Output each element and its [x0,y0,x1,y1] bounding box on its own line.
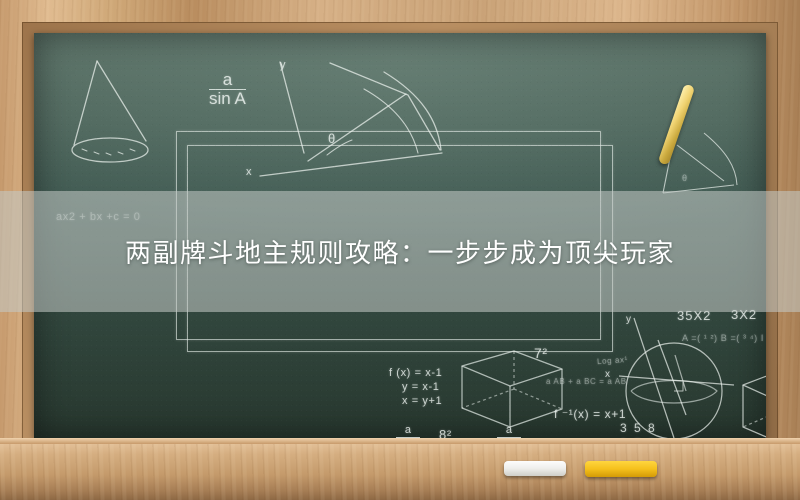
chalk-seven-squared: 7² [534,345,548,361]
chalk-angle-theta-1: θ [328,131,336,146]
chalk-axis-x-label-1: x [246,166,252,178]
blackboard-cover-image: a sin A y x θ ax2 + bx +c = 0 f (x) = x-… [0,0,800,500]
chalk-axis-x-label-2: x [605,369,611,380]
yellow-chalk-stub [585,461,657,477]
chalk-division-row-1: 3 5 8 [620,421,657,435]
chalk-fraction-a-sin-a-3: a sin A [497,425,521,438]
title-overlay-band: 两副牌斗地主规则攻略：一步步成为顶尖玩家 [0,191,800,312]
board-eraser [504,461,566,476]
chalk-inverse-function: f ⁻¹(x) = x+1 [554,407,626,421]
chalk-axis-y-label-2: y [626,314,632,325]
chalk-axis-y-label-1: y [280,59,286,71]
chalk-fraction-a-sin-a-1: a sin A [209,71,246,108]
chalk-vector-identity: a AB + a BC = a AB [546,377,627,386]
fraction-bar [209,89,246,90]
fraction-numerator: a [506,424,512,436]
fraction-numerator: a [405,424,411,436]
chalk-ledge [0,444,800,500]
chalk-fx-line-3: x = y+1 [402,395,442,407]
chalk-angle-theta-2: θ [682,173,688,183]
fraction-numerator: a [223,70,232,89]
chalk-eight-squared: 8² [439,427,452,438]
chalk-log-ax: Log ax¹ [597,355,628,366]
chalk-fraction-a-sin-a-2: a sin A [396,425,420,438]
page-title: 两副牌斗地主规则攻略：一步步成为顶尖玩家 [125,233,675,270]
chalk-fx-line-1: f (x) = x-1 [389,367,442,379]
fraction-denominator: sin A [209,89,246,108]
chalk-matrix-row: A =( ¹ ²) B =( ³ ⁴) I =( ¹ ⁰) [682,333,766,344]
chalk-fx-line-2: y = x-1 [402,381,440,393]
